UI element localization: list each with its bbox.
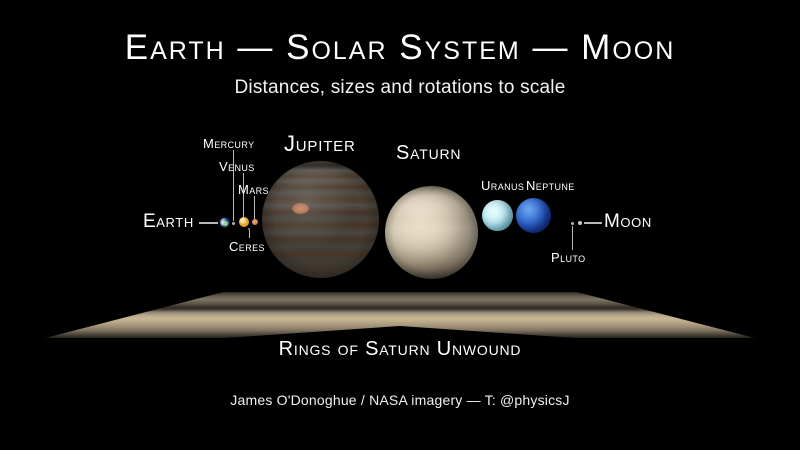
planet-pluto bbox=[571, 222, 574, 225]
page-subtitle: Distances, sizes and rotations to scale bbox=[0, 75, 800, 101]
label-uranus: Uranus bbox=[481, 178, 524, 193]
planet-saturn bbox=[385, 186, 478, 279]
planet-jupiter bbox=[262, 161, 379, 278]
page-title: Earth — Solar System — Moon bbox=[0, 26, 800, 70]
planet-mercury bbox=[232, 222, 235, 225]
moon-leader-line bbox=[584, 222, 602, 224]
credit-line: James O'Donoghue / NASA imagery — T: @ph… bbox=[0, 392, 800, 408]
label-moon: Moon bbox=[604, 211, 652, 233]
label-pluto: Pluto bbox=[551, 250, 586, 265]
rings-caption: Rings of Saturn Unwound bbox=[0, 338, 800, 361]
ceres-leader-line bbox=[249, 230, 250, 238]
planet-earth bbox=[220, 218, 229, 227]
label-neptune: Neptune bbox=[526, 178, 575, 193]
moon-body bbox=[578, 221, 582, 225]
planet-neptune bbox=[516, 198, 551, 233]
mars-leader-line bbox=[254, 196, 255, 219]
label-jupiter: Jupiter bbox=[284, 131, 356, 157]
label-mercury: Mercury bbox=[203, 136, 254, 151]
poster-canvas: Earth — Solar System — Moon Distances, s… bbox=[0, 0, 800, 450]
label-earth: Earth bbox=[143, 211, 194, 233]
planet-venus bbox=[239, 217, 249, 227]
planet-mars bbox=[252, 219, 258, 225]
label-ceres: Ceres bbox=[229, 239, 265, 254]
ring-stripe-band bbox=[0, 292, 800, 338]
label-venus: Venus bbox=[219, 159, 255, 174]
planet-ceres bbox=[248, 228, 250, 230]
planet-uranus bbox=[482, 200, 513, 231]
pluto-leader-line bbox=[572, 226, 573, 250]
label-saturn: Saturn bbox=[396, 142, 461, 165]
earth-leader-line bbox=[199, 222, 218, 224]
label-mars: Mars bbox=[238, 182, 269, 197]
